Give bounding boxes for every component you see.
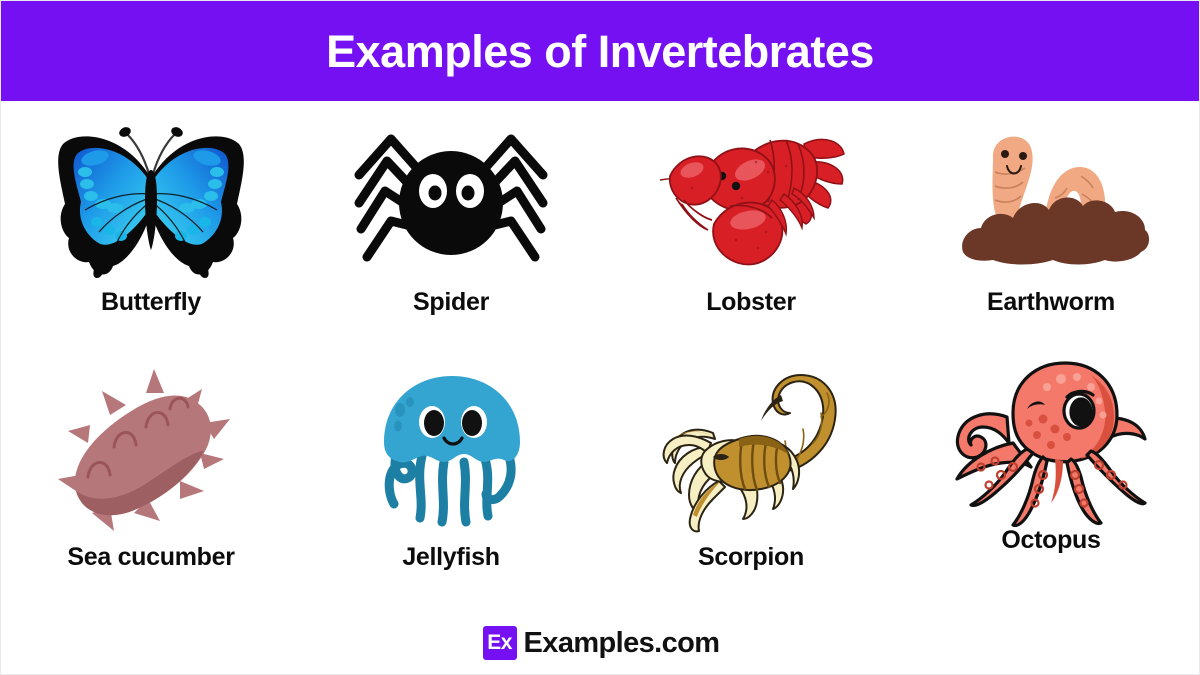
- page-header: Examples of Invertebrates: [1, 1, 1199, 101]
- page-title: Examples of Invertebrates: [326, 29, 874, 74]
- grid-item-sea-cucumber[interactable]: Sea cucumber: [1, 356, 301, 611]
- cell-label-octopus: Octopus: [1001, 526, 1100, 555]
- sea-cucumber-illustration: [46, 364, 256, 539]
- grid-item-scorpion[interactable]: Scorpion: [601, 356, 901, 611]
- invertebrates-grid: Butterfly: [1, 101, 1200, 611]
- lobster-illustration: [646, 109, 856, 284]
- jellyfish-illustration: [346, 364, 556, 539]
- grid-item-spider[interactable]: Spider: [301, 101, 601, 356]
- grid-item-lobster[interactable]: Lobster: [601, 101, 901, 356]
- butterfly-illustration: [46, 109, 256, 284]
- footer-branding: Ex Examples.com: [1, 626, 1200, 660]
- octopus-illustration: [946, 358, 1156, 526]
- infographic-page: Examples of Invertebrates: [0, 0, 1200, 675]
- examples-logo-text[interactable]: Examples.com: [524, 627, 720, 660]
- scorpion-illustration: [646, 364, 856, 539]
- grid-item-octopus[interactable]: Octopus: [901, 356, 1200, 611]
- cell-label-butterfly: Butterfly: [101, 288, 201, 317]
- earthworm-illustration: [946, 109, 1156, 284]
- cell-label-earthworm: Earthworm: [987, 288, 1115, 317]
- examples-logo-mark[interactable]: Ex: [483, 626, 517, 660]
- grid-item-earthworm[interactable]: Earthworm: [901, 101, 1200, 356]
- grid-item-butterfly[interactable]: Butterfly: [1, 101, 301, 356]
- spider-illustration: [346, 109, 556, 284]
- grid-item-jellyfish[interactable]: Jellyfish: [301, 356, 601, 611]
- cell-label-jellyfish: Jellyfish: [402, 543, 499, 572]
- cell-label-lobster: Lobster: [706, 288, 796, 317]
- cell-label-spider: Spider: [413, 288, 489, 317]
- cell-label-scorpion: Scorpion: [698, 543, 804, 572]
- cell-label-sea-cucumber: Sea cucumber: [67, 543, 234, 572]
